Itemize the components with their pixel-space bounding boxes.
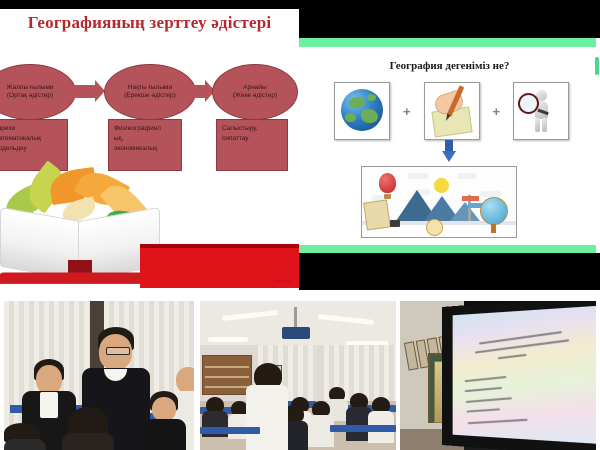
flow-arrow-2-icon [190,85,206,98]
bookshelf-icon [202,355,252,395]
interactive-whiteboard-icon[interactable] [442,301,596,450]
glasses-icon [106,347,130,355]
student-figure [308,401,334,447]
flow-box-2-line3: экономикалық [114,145,157,152]
student-standing-figure [246,363,288,450]
red-bar: www.ppt [140,248,299,288]
map-icon [363,199,391,230]
plus-operator-1: + [403,105,411,118]
equation-thumbnails: + + [334,82,569,140]
thumb-globe[interactable] [334,82,390,140]
definition-title: География дегеніміз не? [299,60,600,72]
collage-page: Географияның зерттеу әдістері Жалпы ғылы… [0,0,600,450]
slide-title: Географияның зерттеу әдістері [0,13,299,33]
flow-arrow-1-icon [74,85,96,98]
diagram-slide[interactable]: Географияның зерттеу әдістері Жалпы ғылы… [0,0,299,290]
flow-node-3-line1: Арнайы [243,84,266,91]
flow-node-2-line1: Нақты ғылыми [128,84,172,91]
flow-node-1-line1: Жалпы ғылыми [6,84,53,91]
camera-icon [390,220,400,227]
flow-box-3-line2: сипаттау [222,135,249,142]
flow-box-1-line3: модельдеу [0,145,27,152]
flow-box-2-line1: Физгеографиял [114,125,161,132]
plus-operator-2: + [492,105,500,118]
down-arrow-icon [442,140,456,162]
flow-box-3-line1: Салыстыру, [222,125,258,132]
flow-box-1-line1: Тарихи [0,125,15,132]
travel-scene-illustration[interactable] [361,166,517,238]
slide-black-band-bottom [299,253,600,290]
photo-interactive-whiteboard[interactable] [400,301,596,450]
definition-slide[interactable]: География дегеніміз не? + + [299,0,600,290]
photo-classroom-groupwork[interactable] [200,301,396,450]
flow-box-1-line2: математикалық [0,135,41,142]
student-figure [62,407,114,450]
photo-row [0,290,600,450]
flow-box-2[interactable]: Физгеографиял ық, экономикалық [108,119,182,171]
photo-classroom-standing[interactable] [4,301,194,450]
student-figure [144,391,186,450]
projector-icon [282,327,310,339]
globe-icon [341,89,383,131]
watermark: www.ppt [274,278,293,283]
flow-node-1-line2: (Ортақ әдістер) [7,92,53,99]
flow-node-2[interactable]: Нақты ғылыми (Ерекше әдістер) [104,64,196,120]
flow-node-3-line2: (Жеке әдістер) [233,92,277,99]
projected-slide [453,305,596,444]
open-book-icon [0,204,160,284]
thumb-writing-hand[interactable] [424,82,480,140]
slides-row: Географияның зерттеу әдістері Жалпы ғылы… [0,0,600,290]
desk-globe-icon [480,197,508,225]
compass-icon [426,219,443,236]
flow-diagram: Жалпы ғылыми (Ортақ әдістер) Нақты ғылым… [0,64,299,120]
flow-node-1[interactable]: Жалпы ғылыми (Ортақ әдістер) [0,64,76,120]
slide-top-band [0,0,299,9]
flow-node-2-line2: (Ерекше әдістер) [124,92,176,99]
slide-green-band-top [299,38,596,47]
flow-box-1[interactable]: Тарихи математикалық модельдеу [0,119,68,171]
thumb-magnifier-figure[interactable] [513,82,569,140]
hot-air-balloon-icon [379,173,396,193]
student-figure [4,423,46,450]
flow-node-3[interactable]: Арнайы (Жеке әдістер) [212,64,298,120]
student-figure [368,397,394,443]
slide-black-band-top [299,0,600,38]
flow-box-3[interactable]: Салыстыру, сипаттау [216,119,288,171]
flow-box-2-line2: ық, [114,135,123,142]
